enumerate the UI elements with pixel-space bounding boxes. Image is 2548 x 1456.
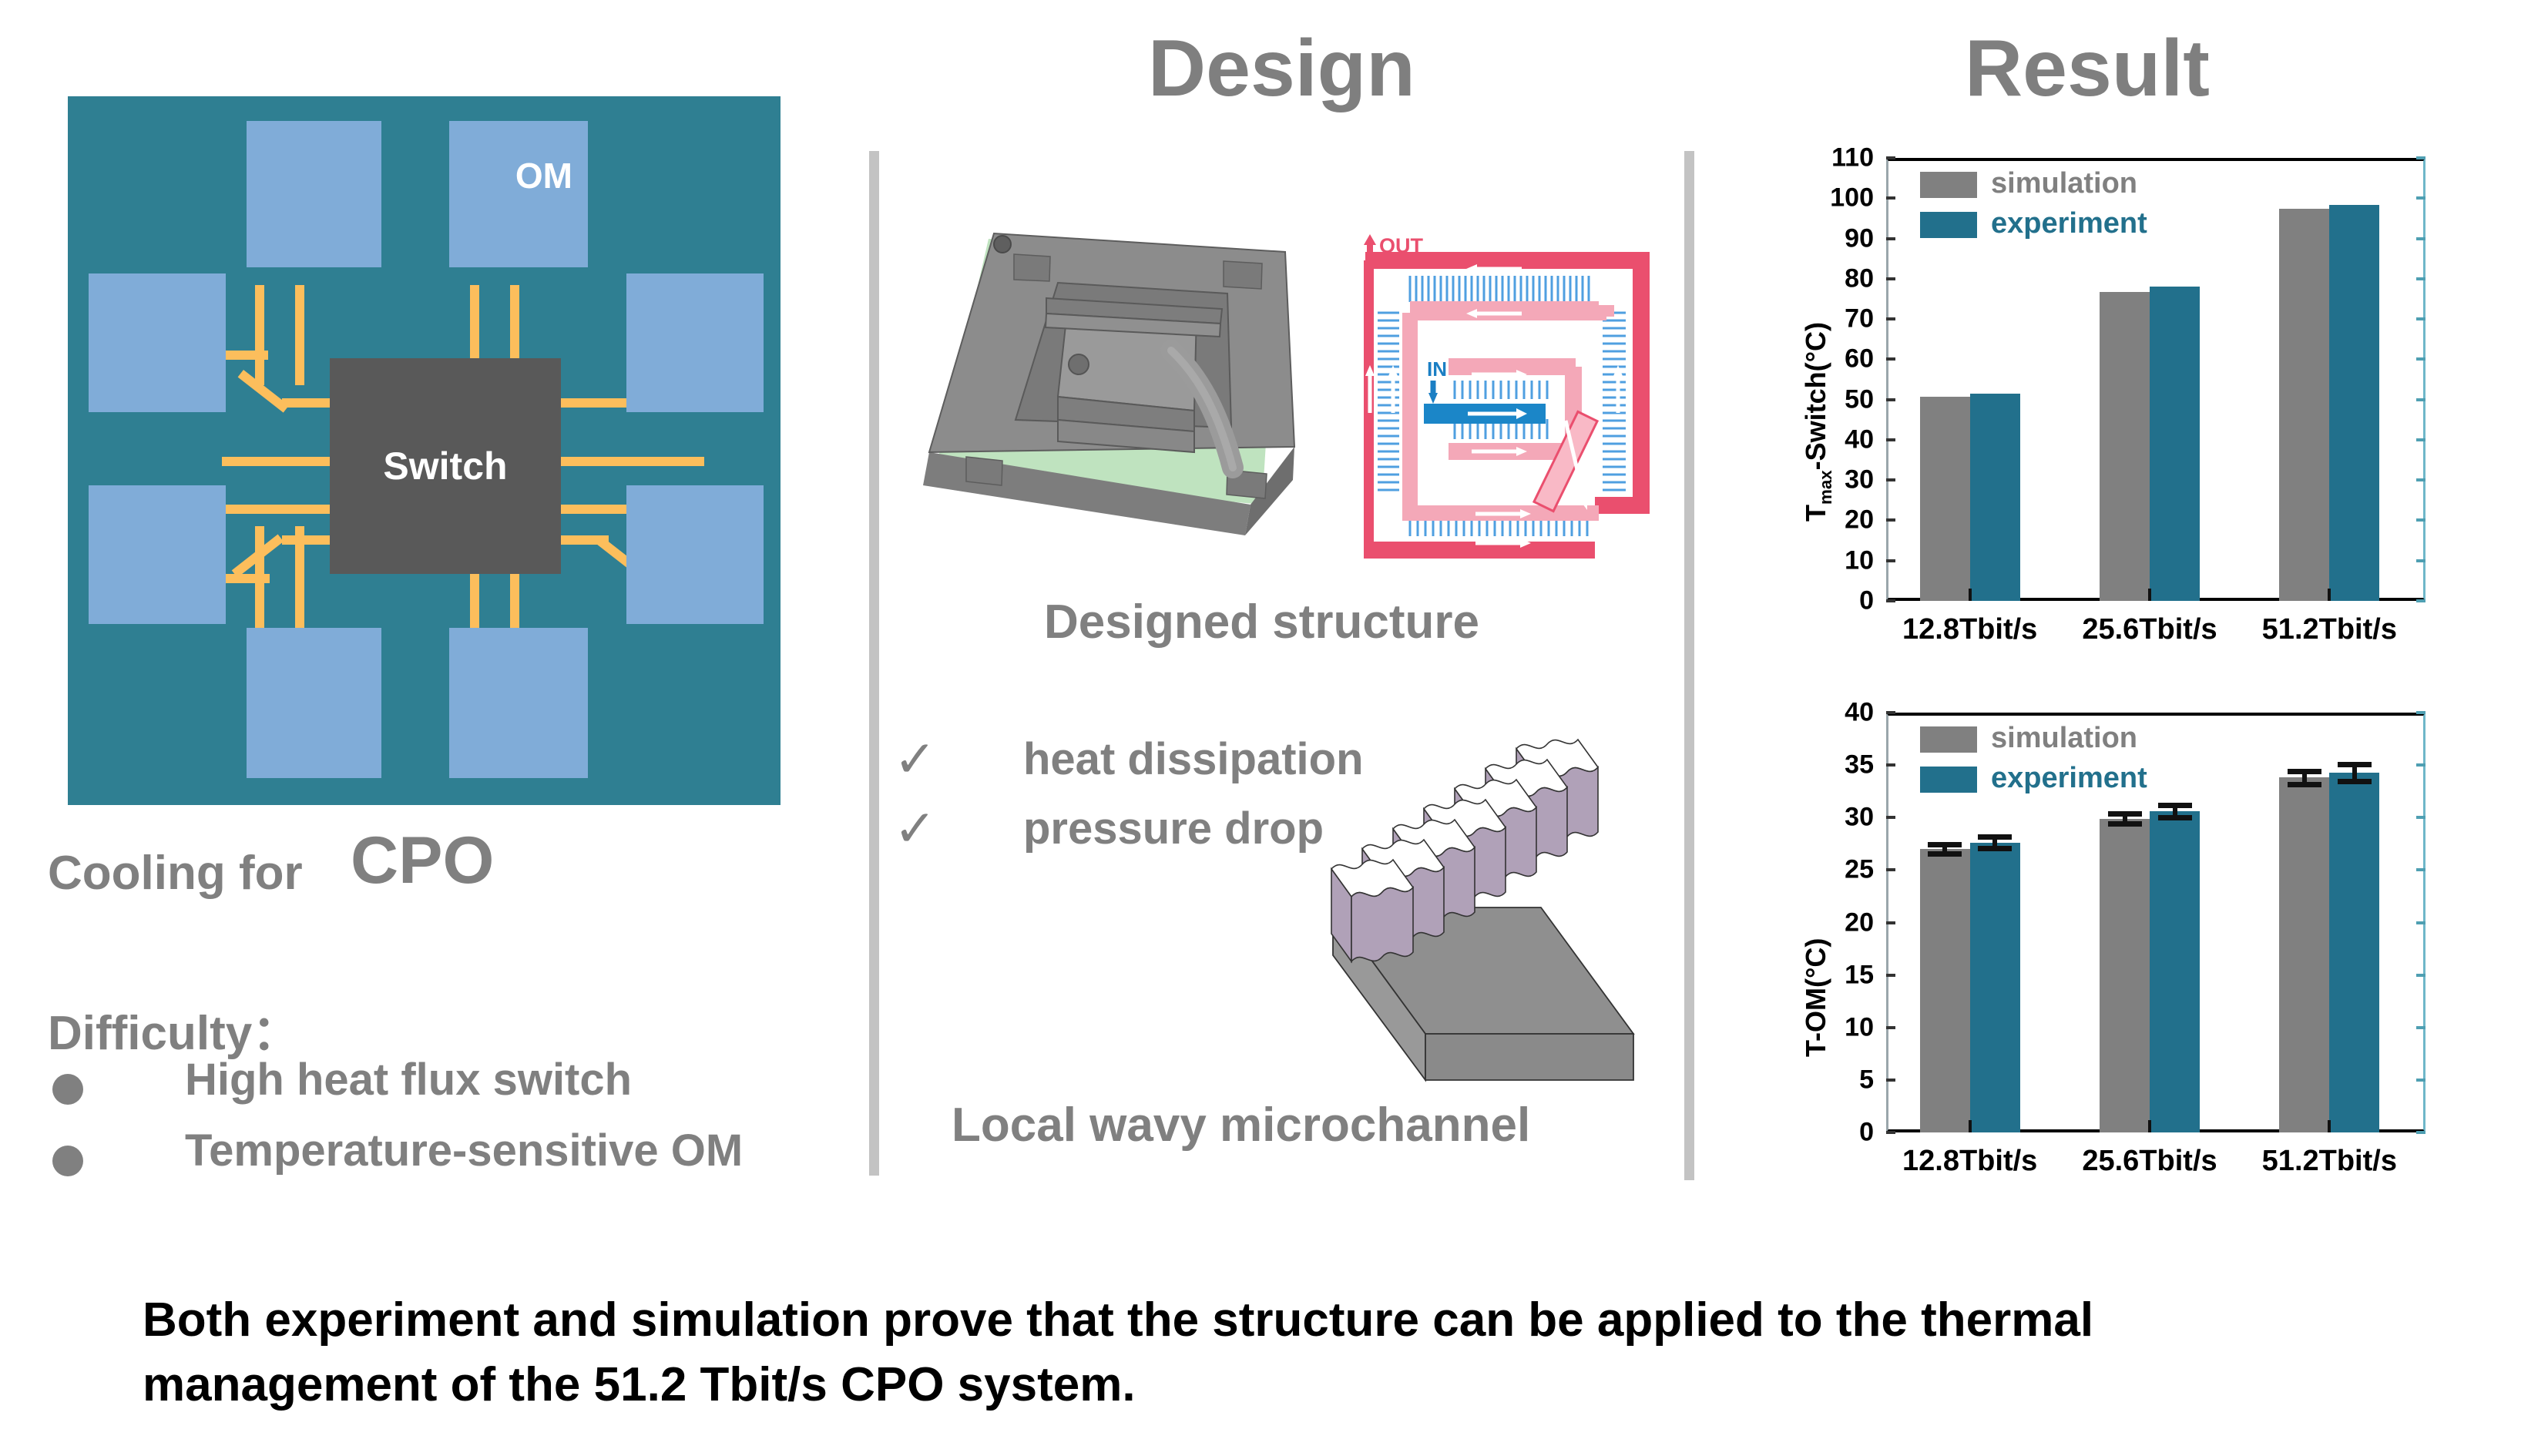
y-axis-tick-right	[2416, 357, 2425, 361]
y-axis-tick-right	[2416, 711, 2425, 714]
local-wavy-microchannel-caption: Local wavy microchannel	[952, 1098, 1530, 1152]
y-axis-tick	[1886, 599, 1895, 602]
error-bar-cap	[2158, 815, 2192, 820]
error-bar-cap	[2338, 762, 2372, 767]
y-axis-tick-right	[2416, 868, 2425, 871]
error-bar-cap	[1978, 846, 2012, 851]
y-axis-tick-label: 40	[1795, 698, 1874, 728]
y-axis-tick	[1886, 816, 1895, 819]
error-bar-cap	[2288, 782, 2321, 787]
x-axis-tick	[1969, 589, 1972, 601]
y-axis-tick-right	[2416, 398, 2425, 401]
y-axis-tick-right	[2416, 1026, 2425, 1029]
wire	[295, 285, 304, 385]
designed-structure-caption: Designed structure	[1044, 595, 1479, 649]
wire	[222, 351, 268, 360]
y-axis-tick	[1886, 398, 1895, 401]
switch-chip-label: Switch	[383, 444, 507, 488]
cpo-label: CPO	[351, 823, 494, 899]
bar-experiment-51.2Tbit/s	[2329, 773, 2379, 1132]
legend-label-experiment: experiment	[1991, 762, 2147, 795]
y-axis-tick-right	[2416, 478, 2425, 481]
y-axis-tick-right	[2416, 921, 2425, 924]
om-chip-left-upper	[89, 273, 226, 412]
y-axis-tick-right	[2416, 237, 2425, 240]
y-axis-tick	[1886, 237, 1895, 240]
bullet-item-0: High heat flux switch	[185, 1054, 632, 1105]
legend-swatch-simulation	[1920, 172, 1977, 198]
y-axis-tick-right	[2416, 317, 2425, 320]
wire	[222, 574, 270, 583]
summary-caption: Both experiment and simulation prove tha…	[143, 1288, 2338, 1417]
y-axis-tick	[1886, 196, 1895, 200]
legend-swatch-experiment	[1920, 767, 1977, 793]
x-axis-tick	[2328, 589, 2331, 601]
bar-experiment-25.6Tbit/s	[2150, 811, 2200, 1132]
wavy-microchannel-3d-illustration	[1310, 732, 1680, 1102]
error-bar-cap	[2338, 779, 2372, 784]
y-axis-tick-right	[2416, 1131, 2425, 1134]
x-axis-category-label: 12.8Tbit/s	[1870, 1145, 2070, 1178]
result-heading: Result	[1965, 23, 2210, 115]
y-axis-tick	[1886, 1026, 1895, 1029]
y-axis-tick-right	[2416, 438, 2425, 441]
bar-simulation-51.2Tbit/s	[2279, 209, 2329, 601]
y-axis-tick-right	[2416, 518, 2425, 522]
designed-structure-3d-illustration	[900, 166, 1331, 597]
y-axis-title: T-OM(°C)	[1800, 938, 1832, 1057]
y-axis-tick-label: 10	[1795, 545, 1874, 575]
flow-schematic-illustration: OUT	[1364, 228, 1672, 582]
y-axis-tick-label: 25	[1795, 855, 1874, 885]
y-axis-tick	[1886, 156, 1895, 159]
y-axis-tick	[1886, 277, 1895, 280]
y-axis-tick	[1886, 518, 1895, 522]
svg-text:IN: IN	[1427, 357, 1447, 381]
error-bar-cap	[2158, 803, 2192, 808]
y-axis-tick-right	[2416, 599, 2425, 602]
chart-tmax-switch: 0102030405060708090100110Tmax-Switch(°C)…	[1795, 150, 2442, 682]
bullet-dot-icon	[52, 1146, 83, 1176]
legend-swatch-experiment	[1920, 212, 1977, 238]
y-axis-tick-label: 35	[1795, 750, 1874, 780]
om-chip-right-upper	[626, 273, 764, 412]
bar-simulation-12.8Tbit/s	[1920, 397, 1970, 601]
wire	[255, 285, 264, 385]
y-axis-tick-right	[2416, 196, 2425, 200]
y-axis-tick-right	[2416, 974, 2425, 977]
y-axis-tick	[1886, 1079, 1895, 1082]
legend-label-simulation: simulation	[1991, 167, 2137, 200]
y-axis-tick	[1886, 711, 1895, 714]
bar-simulation-25.6Tbit/s	[2100, 819, 2150, 1132]
cpo-board-diagram: OM Switch	[68, 96, 781, 805]
y-axis-tick-label: 0	[1795, 586, 1874, 616]
feature-label-1: pressure drop	[1023, 803, 1324, 854]
y-axis-tick-label: 90	[1795, 223, 1874, 253]
y-axis-tick-right	[2416, 156, 2425, 159]
x-axis-tick	[2148, 589, 2151, 601]
y-axis-tick-label: 30	[1795, 803, 1874, 833]
y-axis-tick-label: 80	[1795, 263, 1874, 294]
bullet-dot-icon	[52, 1074, 83, 1105]
om-chip-bottom-left	[247, 628, 381, 778]
y-axis-tick	[1886, 317, 1895, 320]
bar-experiment-12.8Tbit/s	[1970, 394, 2020, 601]
y-axis-tick-label: 100	[1795, 183, 1874, 213]
x-axis-category-label: 51.2Tbit/s	[2229, 613, 2429, 646]
y-axis-tick-right	[2416, 816, 2425, 819]
x-axis-category-label: 25.6Tbit/s	[2049, 1145, 2250, 1178]
y-axis-tick	[1886, 974, 1895, 977]
bar-experiment-25.6Tbit/s	[2150, 287, 2200, 601]
bar-simulation-12.8Tbit/s	[1920, 849, 1970, 1132]
om-chip-top-right: OM	[449, 121, 588, 267]
error-bar-cap	[1978, 834, 2012, 840]
x-axis-category-label: 25.6Tbit/s	[2049, 613, 2250, 646]
error-bar-cap	[1928, 851, 1962, 857]
om-chip-bottom-right	[449, 628, 588, 778]
y-axis-tick-label: 20	[1795, 907, 1874, 938]
divider-right	[1684, 151, 1694, 1180]
y-axis-tick	[1886, 559, 1895, 562]
bar-experiment-51.2Tbit/s	[2329, 205, 2379, 601]
y-axis-tick-right	[2416, 277, 2425, 280]
om-chip-top-left	[247, 121, 381, 267]
om-chip-right-lower	[626, 485, 764, 624]
switch-chip: Switch	[330, 358, 561, 574]
y-axis-tick	[1886, 763, 1895, 767]
bar-simulation-25.6Tbit/s	[2100, 292, 2150, 601]
error-bar-cap	[2108, 821, 2142, 827]
check-icon-1: ✓	[894, 803, 936, 854]
x-axis-category-label: 51.2Tbit/s	[2229, 1145, 2429, 1178]
y-axis-tick	[1886, 868, 1895, 871]
y-axis-tick-right	[2416, 1079, 2425, 1082]
x-axis-tick	[1969, 1120, 1972, 1132]
error-bar-cap	[2108, 811, 2142, 817]
design-heading: Design	[1148, 23, 1415, 115]
error-bar-cap	[1928, 842, 1962, 847]
y-axis-tick	[1886, 357, 1895, 361]
bullet-item-1: Temperature-sensitive OM	[185, 1125, 743, 1176]
check-icon-0: ✓	[894, 733, 936, 784]
legend-label-experiment: experiment	[1991, 207, 2147, 240]
error-bar-cap	[2288, 769, 2321, 774]
divider-left	[869, 151, 879, 1176]
bar-simulation-51.2Tbit/s	[2279, 777, 2329, 1132]
bar-experiment-12.8Tbit/s	[1970, 843, 2020, 1132]
om-chip-label: OM	[515, 155, 572, 196]
wire	[561, 457, 704, 466]
y-axis-tick-label: 110	[1795, 143, 1874, 173]
y-axis-tick-label: 0	[1795, 1118, 1874, 1148]
x-axis-tick	[2148, 1120, 2151, 1132]
y-axis-tick	[1886, 1131, 1895, 1134]
legend-swatch-simulation	[1920, 726, 1977, 753]
difficulty-title: Difficulty：	[48, 994, 300, 1063]
y-axis-tick	[1886, 921, 1895, 924]
y-axis-tick-right	[2416, 763, 2425, 767]
y-axis-tick	[1886, 478, 1895, 481]
om-chip-left-lower	[89, 485, 226, 624]
x-axis-category-label: 12.8Tbit/s	[1870, 613, 2070, 646]
legend-label-simulation: simulation	[1991, 722, 2137, 755]
cooling-for-label: Cooling for	[48, 846, 303, 901]
y-axis-tick-right	[2416, 559, 2425, 562]
y-axis-tick-label: 5	[1795, 1065, 1874, 1095]
x-axis-tick	[2328, 1120, 2331, 1132]
y-axis-title: Tmax-Switch(°C)	[1800, 321, 1836, 521]
chart-t-om: 0510152025303540T-OM(°C)12.8Tbit/s25.6Tb…	[1795, 705, 2442, 1206]
y-axis-tick	[1886, 438, 1895, 441]
